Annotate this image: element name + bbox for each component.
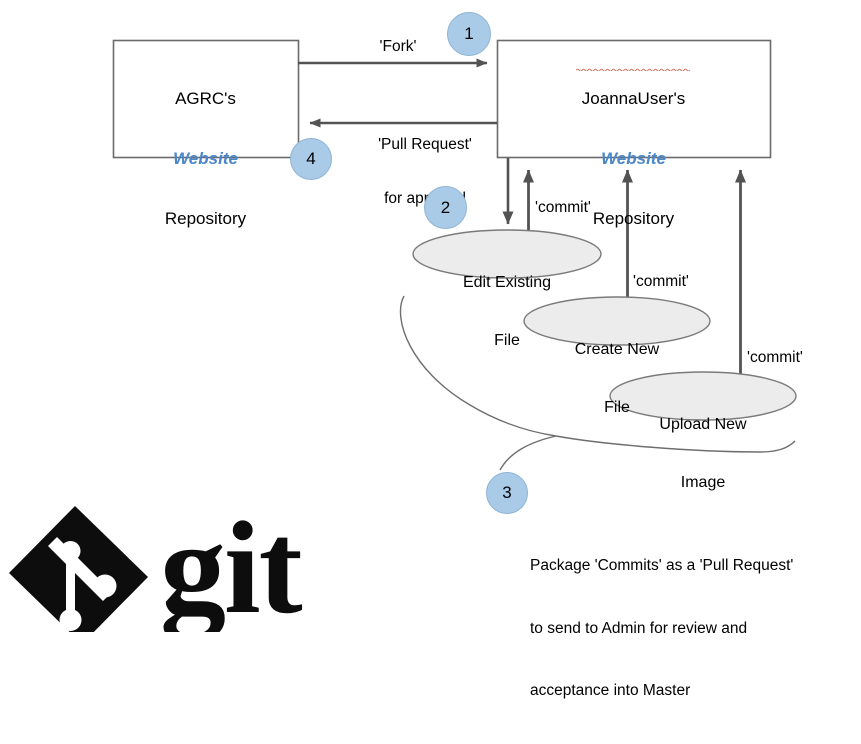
git-wordmark: git (160, 498, 303, 632)
step-marker-1: 1 (447, 12, 491, 56)
step-marker-3: 3 (486, 472, 528, 514)
edge-label-fork: 'Fork' (343, 38, 453, 56)
edge-label-commit-create: 'commit' (633, 273, 713, 291)
box-joanna-line1: JoannaUser's (497, 89, 770, 109)
step-3-note-line1: Package 'Commits' as a 'Pull Request' (530, 556, 860, 577)
edge-label-pull-request-line1: 'Pull Request' (335, 136, 515, 154)
step-marker-4: 4 (290, 138, 332, 180)
diagram-canvas: AGRC's Website Repository JoannaUser's W… (0, 0, 861, 632)
box-agrc-line1: AGRC's (113, 89, 298, 109)
step-marker-2-label: 2 (441, 198, 450, 218)
node-label-upload-new-image: Upload New Image (610, 377, 796, 531)
node-upload-line1: Upload New (610, 415, 796, 434)
step-3-note: Package 'Commits' as a 'Pull Request' to… (530, 514, 860, 744)
spellcheck-squiggle-icon (576, 68, 692, 71)
box-agrc-repo-label: AGRC's Website Repository (113, 49, 298, 270)
step-marker-4-label: 4 (306, 149, 315, 169)
step-3-note-line2: to send to Admin for review and (530, 619, 860, 640)
node-edit-line1: Edit Existing (413, 273, 601, 292)
step-marker-2: 2 (424, 186, 467, 229)
box-joanna-line2: Website (497, 149, 770, 169)
box-agrc-line2: Website (113, 149, 298, 169)
box-agrc-line3: Repository (113, 209, 298, 229)
edge-label-commit-edit: 'commit' (535, 199, 615, 217)
node-upload-line2: Image (610, 473, 796, 492)
step-3-note-line3: acceptance into Master (530, 681, 860, 702)
node-create-line1: Create New (524, 340, 710, 359)
step-marker-3-label: 3 (502, 483, 511, 503)
git-logo-svg: git (0, 498, 320, 632)
git-diamond-branch-icon (9, 506, 148, 632)
edge-label-pull-request: 'Pull Request' for approval (335, 99, 515, 245)
edge-label-commit-upload: 'commit' (747, 349, 827, 367)
git-logo: git (0, 498, 320, 632)
step-marker-1-label: 1 (464, 24, 473, 44)
